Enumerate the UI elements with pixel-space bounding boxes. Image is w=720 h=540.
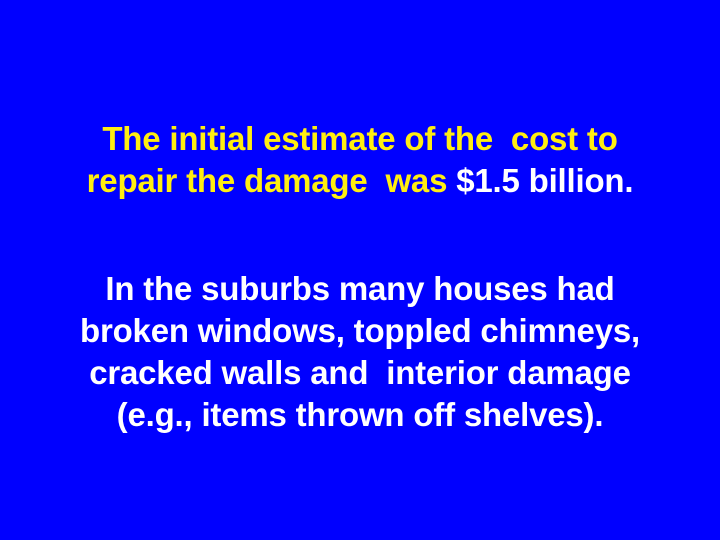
suburban-damage-line-4: (e.g., items thrown off shelves). (0, 394, 720, 436)
cost-estimate-amount: $1.5 billion. (456, 162, 633, 199)
paragraph-suburban-damage: In the suburbs many houses hadbroken win… (0, 268, 720, 436)
cost-estimate-line-2-prefix: repair the damage was (87, 162, 457, 199)
cost-estimate-line-1: The initial estimate of the cost to (0, 118, 720, 160)
cost-estimate-line-2: repair the damage was $1.5 billion. (0, 160, 720, 202)
slide-canvas: The initial estimate of the cost torepai… (0, 0, 720, 540)
suburban-damage-line-2: broken windows, toppled chimneys, (0, 310, 720, 352)
suburban-damage-line-3: cracked walls and interior damage (0, 352, 720, 394)
paragraph-cost-estimate: The initial estimate of the cost torepai… (0, 118, 720, 202)
paragraph-suburban-damage-text: In the suburbs many houses hadbroken win… (0, 268, 720, 436)
suburban-damage-line-1: In the suburbs many houses had (0, 268, 720, 310)
paragraph-cost-estimate-text: The initial estimate of the cost torepai… (0, 118, 720, 202)
